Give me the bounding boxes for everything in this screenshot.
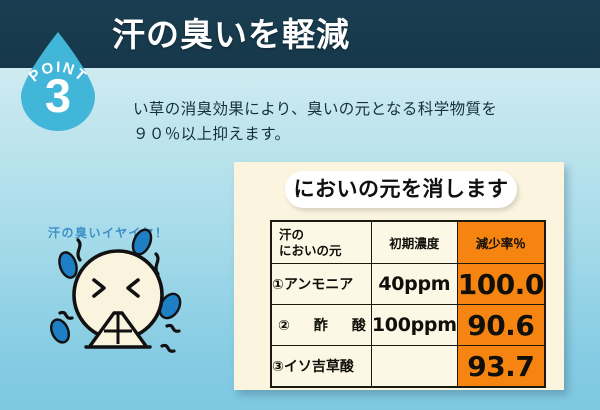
point-badge: POINT 3 [17, 30, 99, 134]
disgusted-face-with-sweat-icon [30, 218, 220, 383]
odor-panel: においの元を消します 汗の においの元 初期濃度 減少率％ ①アンモニア 4 [234, 162, 564, 390]
row-name: ③イソ吉草酸 [271, 346, 371, 388]
column-header-concentration: 初期濃度 [371, 221, 457, 264]
illustration [30, 218, 220, 383]
column-header-name-line1: 汗の [279, 227, 371, 242]
row-rate: 93.7 [457, 346, 545, 388]
table-row: ② 酢 酸 100ppm 90.6 [271, 305, 545, 346]
row-name: ①アンモニア [271, 264, 371, 305]
table-header-row: 汗の においの元 初期濃度 減少率％ [271, 221, 545, 264]
panel-title-pill: においの元を消します [285, 171, 517, 208]
page-title: 汗の臭いを軽減 [112, 8, 350, 56]
point-badge-number: 3 [17, 72, 99, 119]
row-concentration: 100ppm [371, 305, 457, 346]
row-name: ② 酢 酸 [271, 305, 371, 346]
odor-reduction-table: 汗の においの元 初期濃度 減少率％ ①アンモニア 40ppm 100.0 ② … [270, 220, 546, 388]
lead-line-2: ９０％以上抑えます。 [133, 122, 533, 147]
slide-root: 汗の臭いを軽減 POINT 3 い草の消臭効果により、臭いの元となる科学物質を … [0, 0, 600, 410]
table-row: ③イソ吉草酸 93.7 [271, 346, 545, 388]
lead-paragraph: い草の消臭効果により、臭いの元となる科学物質を ９０％以上抑えます。 [133, 97, 533, 147]
table-row: ①アンモニア 40ppm 100.0 [271, 264, 545, 305]
column-header-rate: 減少率％ [457, 221, 545, 264]
column-header-name-line2: においの元 [279, 243, 371, 258]
row-rate: 100.0 [457, 264, 545, 305]
panel-title-text: においの元を消します [285, 171, 517, 208]
column-header-name: 汗の においの元 [271, 221, 371, 264]
row-concentration: 40ppm [371, 264, 457, 305]
row-rate: 90.6 [457, 305, 545, 346]
lead-line-1: い草の消臭効果により、臭いの元となる科学物質を [133, 97, 533, 122]
row-concentration [371, 346, 457, 388]
